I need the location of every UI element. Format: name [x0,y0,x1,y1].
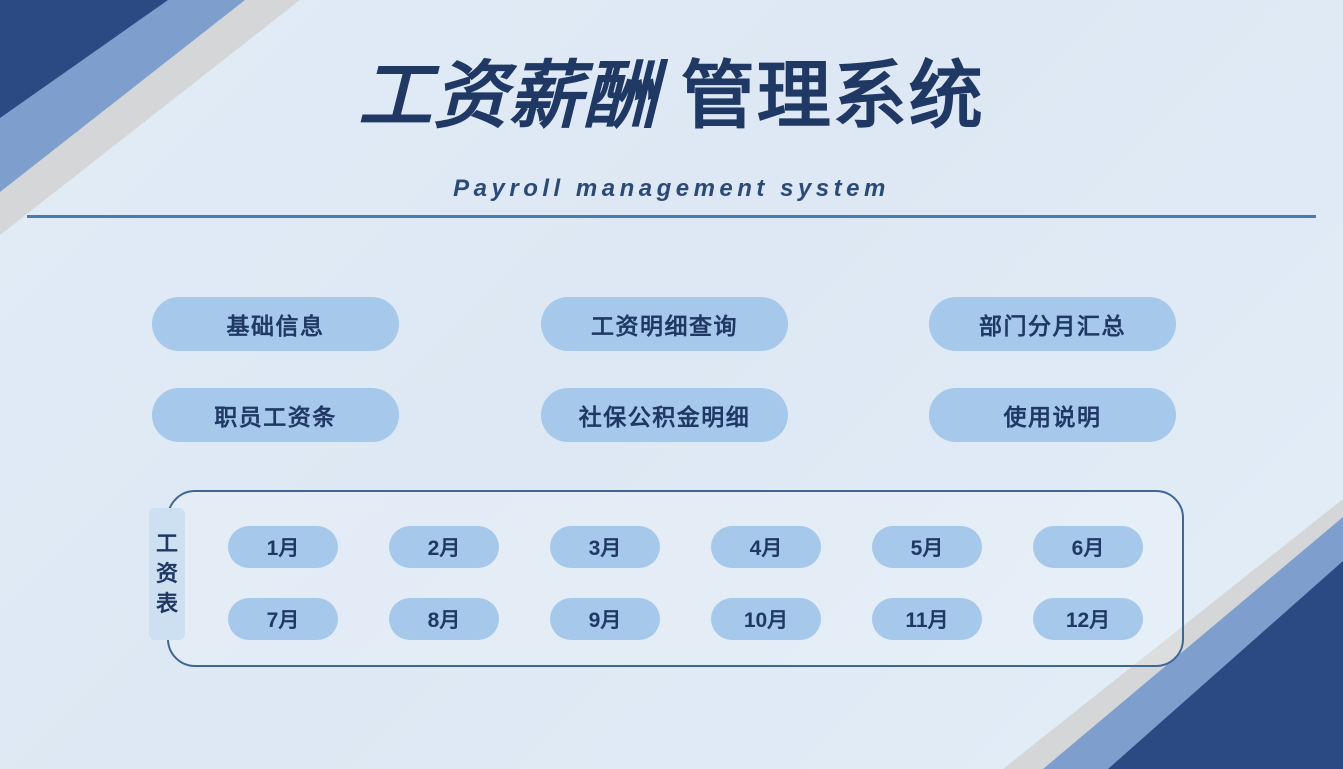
month-button-10[interactable]: 10月 [711,598,821,640]
month-button-grid: 1月2月3月4月5月6月7月8月9月10月11月12月 [228,526,1158,638]
month-button-11[interactable]: 11月 [872,598,982,640]
month-button-4[interactable]: 4月 [711,526,821,568]
nav-button-social-insurance-fund-detail[interactable]: 社保公积金明细 [541,388,788,442]
payroll-tab-char: 资 [156,559,178,589]
nav-button-salary-detail-query[interactable]: 工资明细查询 [541,297,788,351]
month-button-7[interactable]: 7月 [228,598,338,640]
page-title-primary: 工资薪酬 [358,54,658,137]
nav-button-instructions[interactable]: 使用说明 [929,388,1176,442]
page-title-secondary: 管理系统 [658,54,985,137]
payroll-tab-char: 工 [156,529,178,559]
month-button-8[interactable]: 8月 [389,598,499,640]
nav-button-employee-payslip[interactable]: 职员工资条 [152,388,399,442]
month-button-1[interactable]: 1月 [228,526,338,568]
nav-button-grid: 基础信息工资明细查询部门分月汇总职员工资条社保公积金明细使用说明 [0,297,1343,447]
month-button-12[interactable]: 12月 [1033,598,1143,640]
payroll-panel-tab-label: 工资表 [149,508,185,640]
month-button-3[interactable]: 3月 [550,526,660,568]
month-button-9[interactable]: 9月 [550,598,660,640]
month-button-5[interactable]: 5月 [872,526,982,568]
page-title: 工资薪酬 管理系统 [0,48,1343,144]
page-subtitle: Payroll management system [0,175,1343,203]
month-button-2[interactable]: 2月 [389,526,499,568]
header-divider [27,215,1316,218]
header: 工资薪酬 管理系统 Payroll management system [0,0,1343,225]
nav-button-basic-info[interactable]: 基础信息 [152,297,399,351]
payroll-tab-char: 表 [156,589,178,619]
nav-button-department-monthly-summary[interactable]: 部门分月汇总 [929,297,1176,351]
slide-root: 工资薪酬 管理系统 Payroll management system 基础信息… [0,0,1343,769]
month-button-6[interactable]: 6月 [1033,526,1143,568]
